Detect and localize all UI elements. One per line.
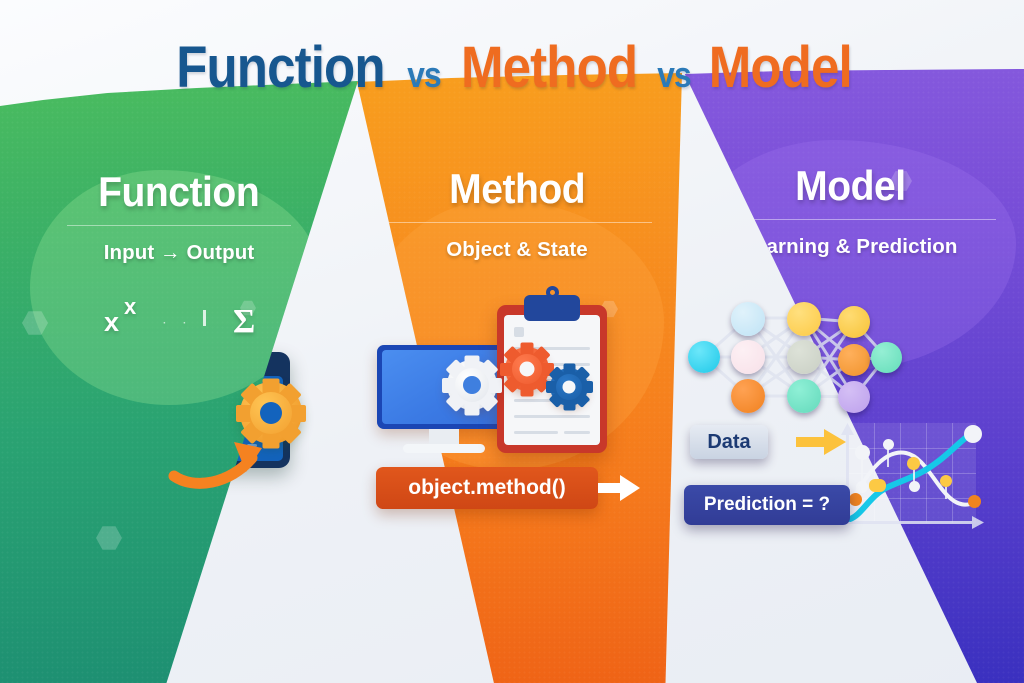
nn-node xyxy=(838,306,870,338)
nn-node xyxy=(787,340,821,374)
chart-point xyxy=(855,445,870,460)
math-symbol-dot: · xyxy=(183,318,186,329)
math-symbol-sigma: Σ xyxy=(233,303,255,341)
chart-point xyxy=(849,493,862,506)
prediction-label-text: Prediction = ? xyxy=(704,494,830,516)
math-symbol-exponent: x xyxy=(124,294,136,320)
panel-divider-function xyxy=(67,225,291,226)
prediction-label: Prediction = ? xyxy=(684,485,850,525)
nn-node xyxy=(838,344,870,376)
arrow-right-yellow-icon xyxy=(796,428,848,456)
neural-network-illustration xyxy=(686,300,901,415)
panel-title-method: Method xyxy=(449,165,585,213)
chart-point xyxy=(909,481,920,492)
panel-subtitle-function: Input → Output xyxy=(0,241,358,265)
monitor-stand-neck xyxy=(429,429,459,445)
chart-point xyxy=(869,479,886,492)
title-word-model: Model xyxy=(709,34,852,101)
nn-node xyxy=(731,302,765,336)
nn-node xyxy=(787,379,821,413)
nn-node xyxy=(731,379,765,413)
panel-divider-model xyxy=(704,219,996,220)
chart-point xyxy=(907,457,920,470)
nn-node xyxy=(787,302,821,336)
clipboard-ring-icon xyxy=(546,286,559,299)
panel-subtitle-model: Learning & Prediction xyxy=(676,235,1024,259)
panel-subtitle-method: Object & State xyxy=(352,238,682,262)
nn-node xyxy=(731,340,765,374)
math-symbol-x: x xyxy=(104,307,119,338)
object-method-label: object.method() xyxy=(376,467,598,509)
gear-icon xyxy=(505,347,549,391)
infographic-canvas: FunctionvsMethodvsModel Function Input →… xyxy=(0,0,1024,683)
chart-point xyxy=(940,475,952,487)
gear-icon xyxy=(550,368,588,406)
chart-point xyxy=(964,425,982,443)
object-method-text: object.method() xyxy=(408,476,566,500)
page-title: FunctionvsMethodvsModel xyxy=(0,34,1024,101)
curved-arrow-icon xyxy=(168,432,288,492)
data-label-text: Data xyxy=(707,431,750,454)
chart-point xyxy=(856,481,868,493)
nn-node-output xyxy=(871,342,902,373)
panel-divider-method xyxy=(382,222,652,223)
nn-node-input xyxy=(688,341,720,373)
arrow-right-icon xyxy=(598,471,644,505)
math-symbol-bar xyxy=(203,310,206,326)
title-word-method: Method xyxy=(461,34,637,101)
panel-function: Function Input → Output x x Σ · · xyxy=(0,0,358,683)
chart-point xyxy=(883,439,894,450)
chart-point xyxy=(968,495,981,508)
data-label: Data xyxy=(690,425,768,459)
title-vs-2: vs xyxy=(652,54,696,96)
prediction-chart xyxy=(836,423,986,541)
gear-icon xyxy=(447,360,497,410)
monitor-stand-base xyxy=(403,444,485,453)
panel-title-model: Model xyxy=(795,162,906,210)
panel-title-function: Function xyxy=(98,168,259,216)
title-vs-1: vs xyxy=(402,54,446,96)
hexagon-decor-icon xyxy=(352,330,366,356)
title-word-function: Function xyxy=(176,34,384,101)
math-symbol-dot: · xyxy=(163,318,166,329)
nn-node xyxy=(838,381,870,413)
